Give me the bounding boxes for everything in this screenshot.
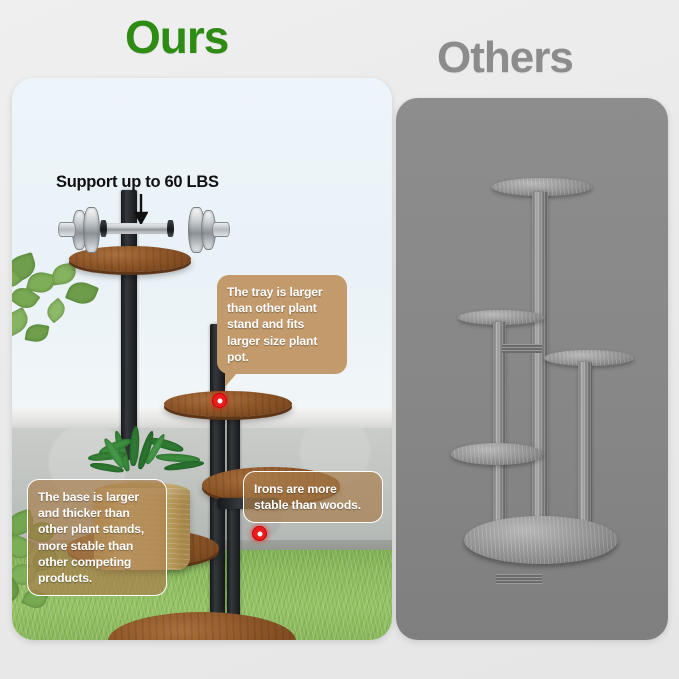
ours-product-card: Support up to 60 LBS <box>12 78 392 640</box>
tray-hotspot[interactable] <box>212 393 227 408</box>
down-arrow-icon <box>134 194 148 224</box>
others-rail-upper <box>502 344 542 353</box>
others-rail-lower <box>496 574 542 584</box>
page-title-ours: Ours <box>125 14 228 60</box>
comparison-stage: Ours Others <box>0 0 679 679</box>
others-tray-fourth <box>451 443 543 465</box>
tray-second <box>164 391 292 417</box>
callout-irons-text: Irons are more stable than woods. <box>254 482 361 512</box>
weight-capacity-label: Support up to 60 LBS <box>56 173 219 192</box>
iron-hotspot[interactable] <box>252 526 267 541</box>
callout-tray-tail <box>225 373 237 387</box>
ivy-foliage <box>12 254 124 374</box>
callout-tray[interactable]: The tray is larger than other plant stan… <box>217 275 347 374</box>
others-post-center <box>532 192 548 542</box>
stand-post-right <box>227 396 240 624</box>
callout-tray-text: The tray is larger than other plant stan… <box>227 285 323 364</box>
ours-photo-scene: Support up to 60 LBS <box>12 78 392 640</box>
callout-irons[interactable]: Irons are more stable than woods. <box>243 471 383 523</box>
others-post-left <box>493 322 506 548</box>
others-photo-scene <box>396 98 668 640</box>
callout-base[interactable]: The base is larger and thicker than othe… <box>27 479 167 596</box>
callout-base-text: The base is larger and thicker than othe… <box>38 490 144 585</box>
others-base <box>464 516 618 564</box>
others-product-card <box>396 98 668 640</box>
page-title-others: Others <box>437 36 573 80</box>
